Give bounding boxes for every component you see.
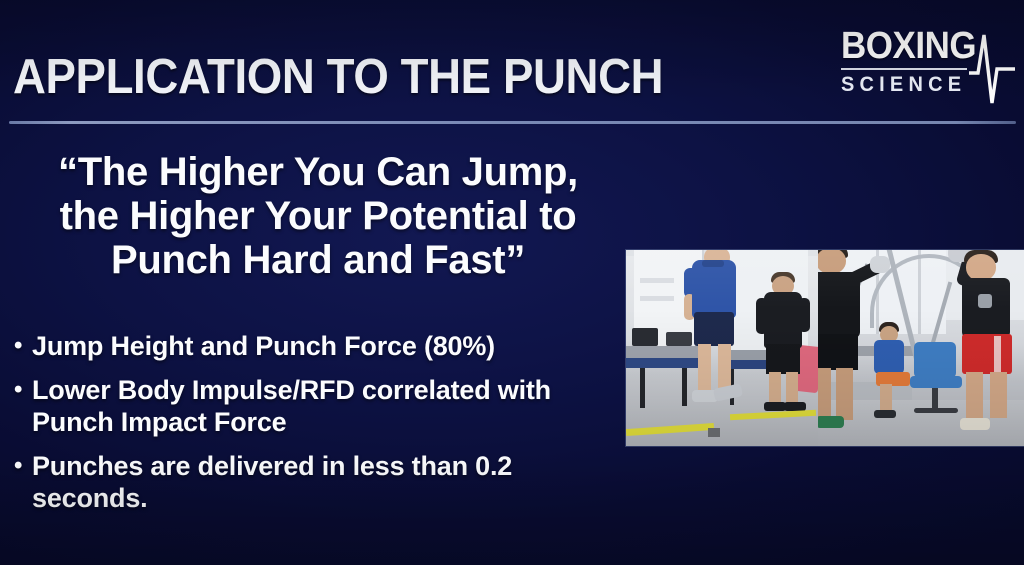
bullet-marker-icon: • — [14, 330, 32, 362]
brand-logo-primary: BOXING — [841, 27, 959, 65]
pull-quote: “The Higher You Can Jump, the Higher You… — [4, 150, 632, 282]
bullet-marker-icon: • — [14, 450, 32, 482]
brand-logo-rule — [841, 68, 967, 70]
quote-line-1: “The Higher You Can Jump, — [4, 150, 632, 194]
bullet-text: Punches are delivered in less than 0.2 s… — [32, 450, 620, 514]
bullet-list: • Jump Height and Punch Force (80%) • Lo… — [14, 330, 620, 526]
page-title: APPLICATION TO THE PUNCH — [13, 49, 663, 105]
brand-logo-secondary: SCIENCE — [841, 73, 963, 97]
quote-line-3: Punch Hard and Fast” — [4, 238, 632, 282]
quote-line-2: the Higher Your Potential to — [4, 194, 632, 238]
photo-composite — [626, 250, 1024, 446]
photo-jump-test — [626, 250, 818, 446]
bullet-text: Jump Height and Punch Force (80%) — [32, 330, 620, 362]
header-divider — [9, 121, 1016, 124]
brand-logo-text: BOXING SCIENCE — [841, 27, 969, 97]
list-item: • Punches are delivered in less than 0.2… — [14, 450, 620, 514]
slide-canvas: APPLICATION TO THE PUNCH BOXING SCIENCE … — [0, 0, 1024, 565]
ecg-waveform-icon — [969, 29, 1015, 109]
list-item: • Lower Body Impulse/RFD correlated with… — [14, 374, 620, 438]
list-item: • Jump Height and Punch Force (80%) — [14, 330, 620, 362]
brand-logo: BOXING SCIENCE — [841, 27, 1013, 109]
bullet-text: Lower Body Impulse/RFD correlated with P… — [32, 374, 620, 438]
photo-punch-test — [818, 250, 1024, 446]
bullet-marker-icon: • — [14, 374, 32, 406]
